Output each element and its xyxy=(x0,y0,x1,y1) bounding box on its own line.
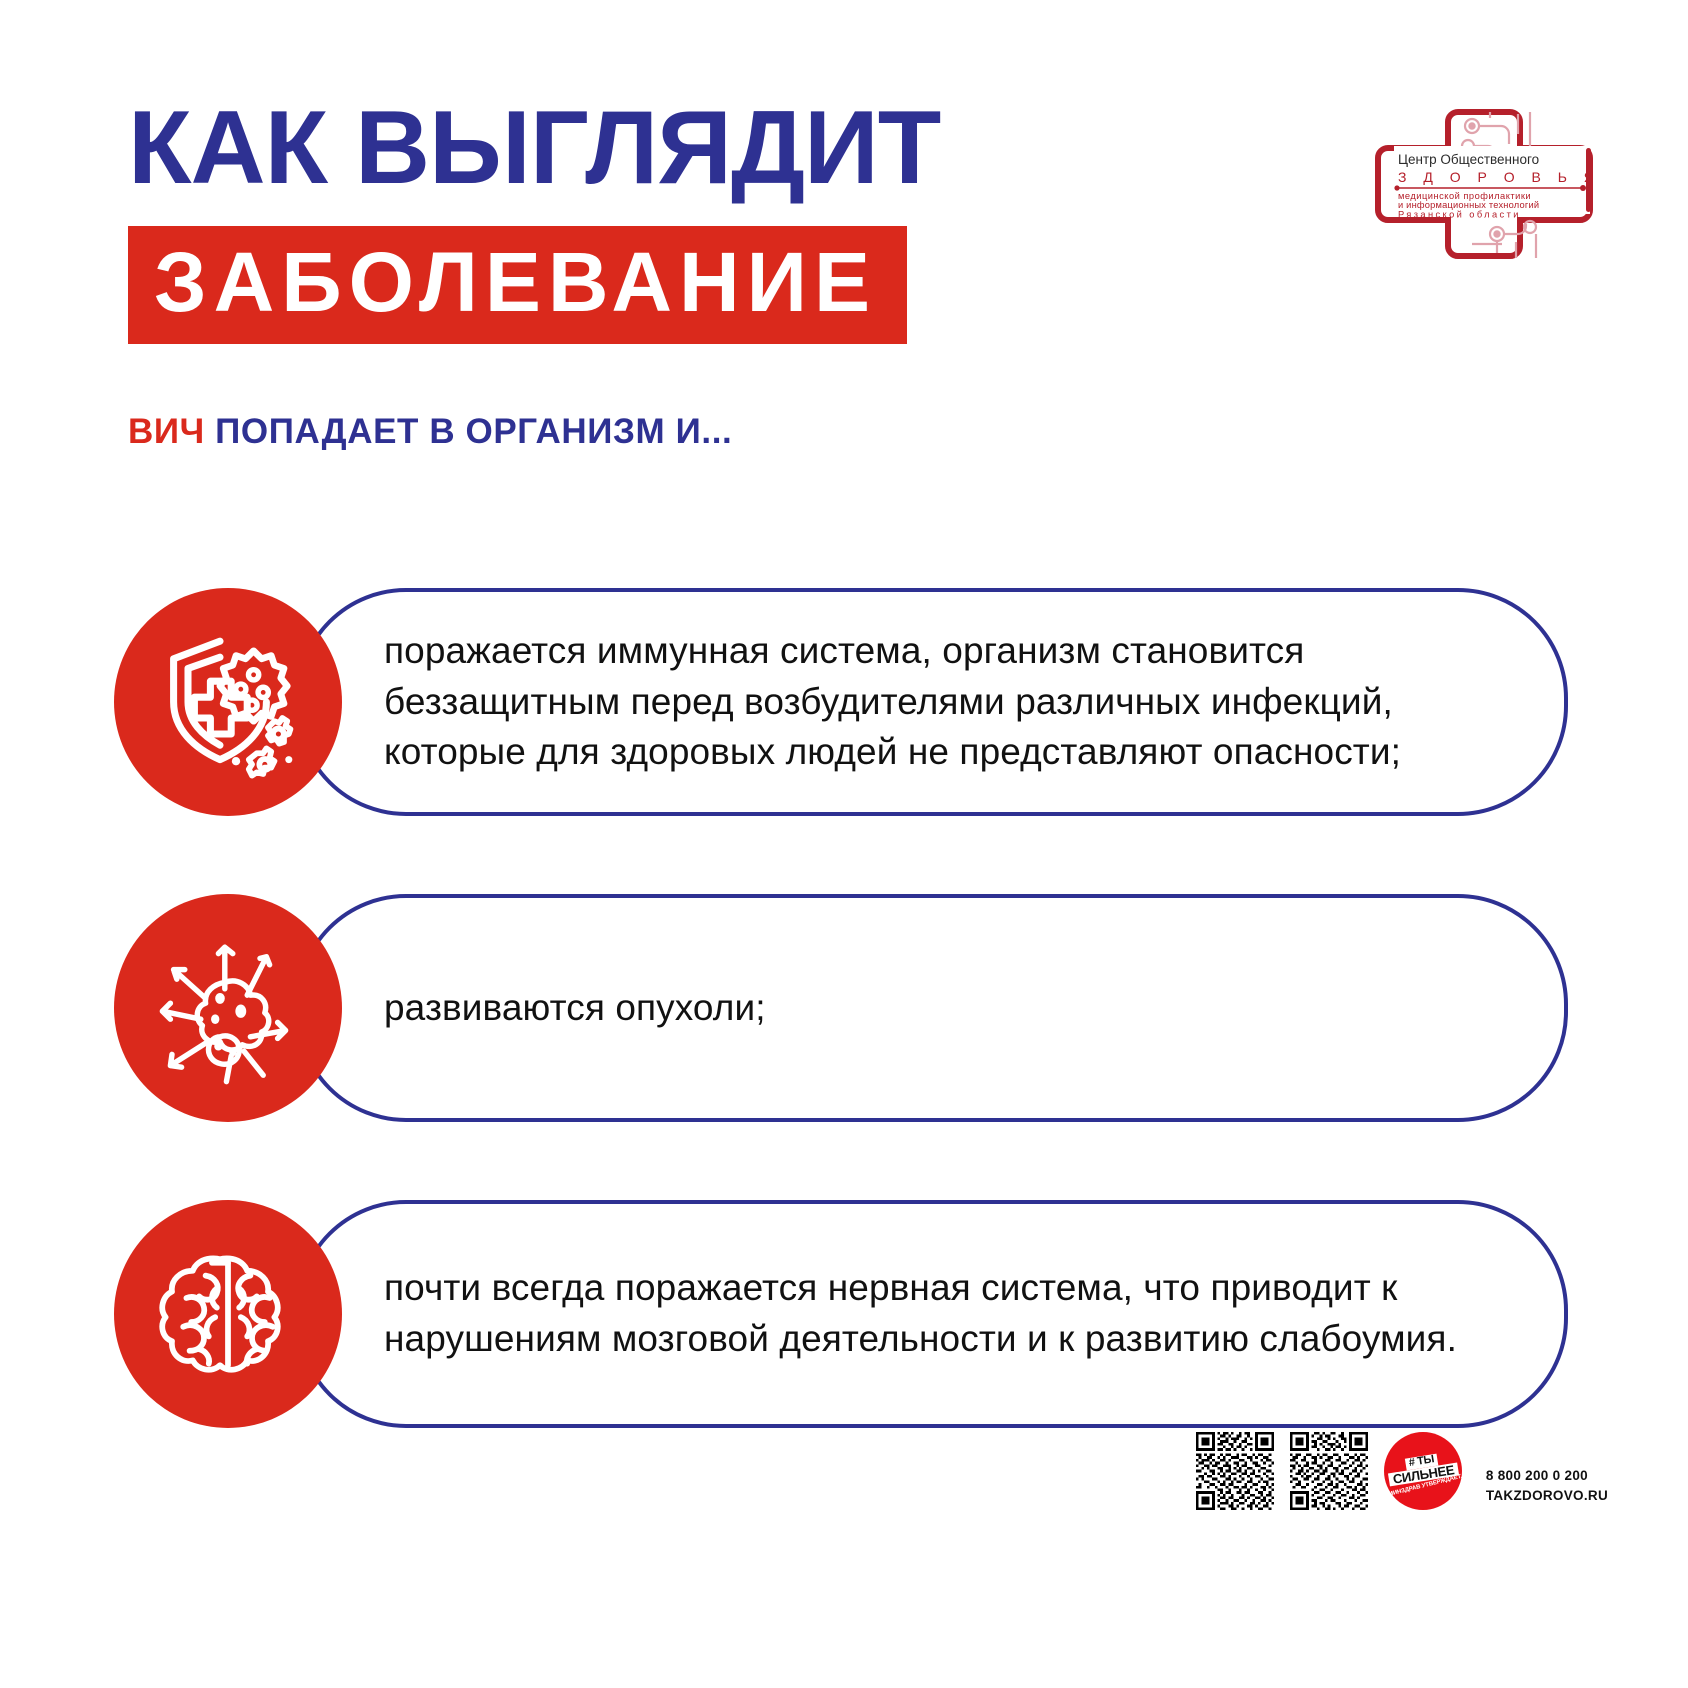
poster-root: КАК ВЫГЛЯДИТ ЗАБОЛЕВАНИЕ ВИЧ ПОПАДАЕТ В … xyxy=(0,0,1688,1688)
badge-inner: # ТЫ СИЛЬНЕЕ МИНЗДРАВ УТВЕРЖДАЕТ. xyxy=(1384,1432,1462,1510)
card-text: почти всегда поражается нервная система,… xyxy=(384,1263,1498,1364)
card-body: почти всегда поражается нервная система,… xyxy=(128,1200,1568,1428)
symptom-card: поражается иммунная система, организм ст… xyxy=(128,588,1568,816)
hotline-phone: 8 800 200 0 200 xyxy=(1486,1466,1608,1486)
qr-code-2[interactable] xyxy=(1290,1432,1368,1510)
title-band-text: ЗАБОЛЕВАНИЕ xyxy=(154,240,877,324)
shield-virus-gears-icon xyxy=(114,588,342,816)
website-url: TAKZDOROVO.RU xyxy=(1486,1486,1608,1506)
symptom-card-list: поражается иммунная система, организм ст… xyxy=(128,588,1568,1428)
title-highlight-band: ЗАБОЛЕВАНИЕ xyxy=(128,226,907,344)
svg-text:З Д О Р О В Ь Я: З Д О Р О В Ь Я xyxy=(1398,169,1600,185)
brain-icon xyxy=(114,1200,342,1428)
svg-text:Рязанской области: Рязанской области xyxy=(1398,210,1521,220)
qr-code-1[interactable] xyxy=(1196,1432,1274,1510)
symptom-card: почти всегда поражается нервная система,… xyxy=(128,1200,1568,1428)
subtitle-accent: ВИЧ xyxy=(128,412,205,451)
card-text: развиваются опухоли; xyxy=(384,983,766,1034)
footer: # ТЫ СИЛЬНЕЕ МИНЗДРАВ УТВЕРЖДАЕТ. 8 800 … xyxy=(1196,1432,1608,1510)
organization-logo: Центр Общественного З Д О Р О В Ь Я меди… xyxy=(1350,94,1600,279)
card-body: поражается иммунная система, организм ст… xyxy=(128,588,1568,816)
svg-text:и информационных технологий: и информационных технологий xyxy=(1398,200,1539,210)
symptom-card: развиваются опухоли; xyxy=(128,894,1568,1122)
card-text: поражается иммунная система, организм ст… xyxy=(384,626,1498,778)
ty-silnee-badge[interactable]: # ТЫ СИЛЬНЕЕ МИНЗДРАВ УТВЕРЖДАЕТ. xyxy=(1384,1432,1462,1510)
svg-text:Центр Общественного: Центр Общественного xyxy=(1398,152,1539,167)
tumor-cell-icon xyxy=(114,894,342,1122)
footer-contact: 8 800 200 0 200 TAKZDOROVO.RU xyxy=(1486,1432,1608,1507)
subtitle-rest: ПОПАДАЕТ В ОРГАНИЗМ И... xyxy=(205,412,733,451)
subtitle: ВИЧ ПОПАДАЕТ В ОРГАНИЗМ И... xyxy=(128,412,1568,452)
card-body: развиваются опухоли; xyxy=(128,894,1568,1122)
